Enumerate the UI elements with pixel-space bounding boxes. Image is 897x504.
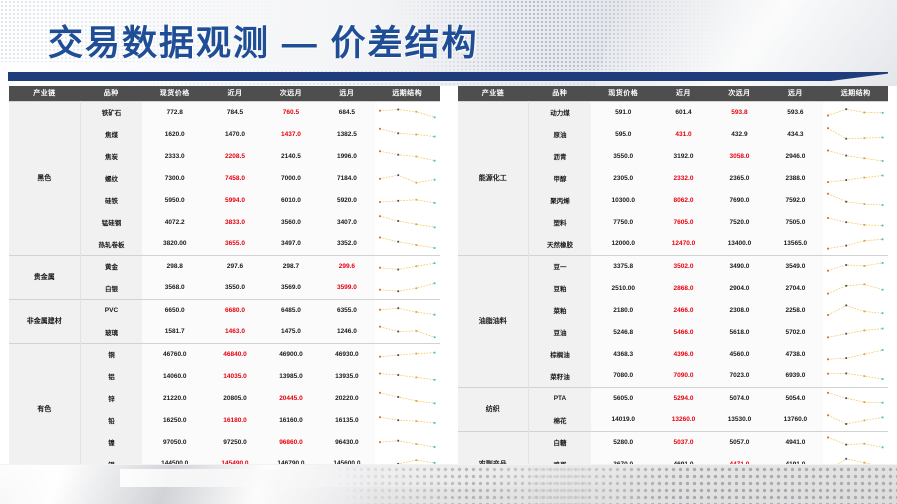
forward-structure-cell	[823, 431, 888, 453]
mid-far-month-cell: 5057.0	[711, 431, 767, 453]
spot-price-cell: 2180.0	[591, 299, 656, 321]
spot-price-cell: 4368.3	[591, 343, 656, 365]
near-month-cell: 5994.0	[207, 189, 263, 211]
table-row[interactable]: 能源化工动力煤591.0601.4593.8593.6	[458, 101, 889, 123]
col-header-mid: 次远月	[711, 86, 767, 101]
forward-curve-sparkline	[823, 344, 888, 365]
forward-structure-cell	[375, 277, 440, 299]
forward-structure-cell	[823, 299, 888, 321]
near-month-cell: 5466.0	[656, 321, 712, 343]
far-month-cell: 593.6	[767, 101, 823, 123]
forward-structure-cell	[375, 321, 440, 343]
near-month-cell: 297.6	[207, 255, 263, 277]
forward-structure-cell	[375, 431, 440, 453]
footer-decoration-band	[0, 464, 897, 504]
near-month-cell: 2466.0	[656, 299, 712, 321]
forward-structure-cell	[375, 189, 440, 211]
col-header-near: 近月	[656, 86, 712, 101]
page-title: 交易数据观测 — 价差结构	[48, 15, 478, 66]
spot-price-cell: 97050.0	[142, 431, 207, 453]
forward-curve-sparkline	[823, 190, 888, 211]
far-month-cell: 3407.0	[319, 211, 375, 233]
far-month-cell: 2946.0	[767, 145, 823, 167]
chain-category-cell: 能源化工	[458, 101, 529, 255]
near-month-cell: 601.4	[656, 101, 712, 123]
far-month-cell: 13565.0	[767, 233, 823, 255]
mid-far-month-cell: 2365.0	[711, 167, 767, 189]
near-month-cell: 7090.0	[656, 365, 712, 387]
col-header-far: 远月	[319, 86, 375, 101]
far-month-cell: 1996.0	[319, 145, 375, 167]
forward-structure-cell	[375, 365, 440, 387]
commodity-name-cell: 天然橡胶	[529, 233, 591, 255]
forward-curve-sparkline	[375, 388, 440, 409]
near-month-cell: 8062.0	[656, 189, 712, 211]
commodity-name-cell: 豆一	[529, 255, 591, 277]
forward-structure-cell	[823, 277, 888, 299]
far-month-cell: 13760.0	[767, 409, 823, 431]
commodity-name-cell: 豆油	[529, 321, 591, 343]
col-header-far: 远月	[767, 86, 823, 101]
near-month-cell: 3192.0	[656, 145, 712, 167]
commodity-name-cell: 棉花	[529, 409, 591, 431]
chain-category-cell: 油脂油料	[458, 255, 529, 387]
forward-curve-sparkline	[823, 432, 888, 453]
near-month-cell: 3550.0	[207, 277, 263, 299]
forward-curve-sparkline	[375, 300, 440, 321]
mid-far-month-cell: 7023.0	[711, 365, 767, 387]
commodity-name-cell: 聚丙烯	[529, 189, 591, 211]
chain-category-cell: 有色	[9, 343, 80, 475]
spot-price-cell: 5280.0	[591, 431, 656, 453]
near-month-cell: 3502.0	[656, 255, 712, 277]
forward-curve-sparkline	[823, 278, 888, 299]
far-month-cell: 7505.0	[767, 211, 823, 233]
commodity-name-cell: 菜粕	[529, 299, 591, 321]
commodity-name-cell: 硅铁	[80, 189, 142, 211]
spot-price-cell: 3375.8	[591, 255, 656, 277]
footer-dot-field-right	[530, 464, 897, 504]
forward-curve-sparkline	[375, 432, 440, 453]
spot-price-cell: 2305.0	[591, 167, 656, 189]
forward-curve-sparkline	[375, 277, 440, 298]
near-month-cell: 6680.0	[207, 299, 263, 321]
header-row: 产业链 品种 现货价格 近月 次远月 远月 远期结构	[9, 86, 440, 101]
commodity-name-cell: 锌	[80, 387, 142, 409]
far-month-cell: 46930.0	[319, 343, 375, 365]
spot-price-cell: 591.0	[591, 101, 656, 123]
forward-structure-cell	[823, 233, 888, 255]
near-month-cell: 3833.0	[207, 211, 263, 233]
col-header-kind: 品种	[529, 86, 591, 101]
forward-structure-cell	[823, 365, 888, 387]
commodity-name-cell: 铝	[80, 365, 142, 387]
forward-curve-sparkline	[375, 190, 440, 211]
far-month-cell: 96430.0	[319, 431, 375, 453]
mid-far-month-cell: 1475.0	[263, 321, 319, 343]
col-header-chain: 产业链	[9, 86, 80, 101]
mid-far-month-cell: 3560.0	[263, 211, 319, 233]
far-month-cell: 5702.0	[767, 321, 823, 343]
spot-price-cell: 3568.0	[142, 277, 207, 299]
mid-far-month-cell: 2904.0	[711, 277, 767, 299]
mid-far-month-cell: 298.7	[263, 255, 319, 277]
far-month-cell: 3599.0	[319, 277, 375, 299]
table-header-left: 产业链 品种 现货价格 近月 次远月 远月 远期结构	[9, 86, 440, 101]
far-month-cell: 5920.0	[319, 189, 375, 211]
near-month-cell: 2868.0	[656, 277, 712, 299]
forward-structure-cell	[823, 101, 888, 123]
mid-far-month-cell: 2308.0	[711, 299, 767, 321]
near-month-cell: 7458.0	[207, 167, 263, 189]
forward-structure-cell	[823, 387, 888, 409]
col-header-struct: 远期结构	[375, 86, 440, 101]
commodity-name-cell: 动力煤	[529, 101, 591, 123]
forward-structure-cell	[375, 167, 440, 189]
spot-price-cell: 2333.0	[142, 145, 207, 167]
forward-structure-cell	[375, 101, 440, 123]
mid-far-month-cell: 3490.0	[711, 255, 767, 277]
forward-curve-sparkline	[375, 233, 440, 254]
spot-price-cell: 3550.0	[591, 145, 656, 167]
forward-curve-sparkline	[823, 102, 888, 123]
forward-structure-cell	[375, 387, 440, 409]
near-month-cell: 1470.0	[207, 123, 263, 145]
price-structure-table-left: 产业链 品种 现货价格 近月 次远月 远月 远期结构 黑色铁矿石772.8784…	[9, 86, 440, 504]
commodity-name-cell: 玻璃	[80, 321, 142, 343]
mid-far-month-cell: 16160.0	[263, 409, 319, 431]
forward-structure-cell	[375, 255, 440, 277]
forward-curve-sparkline	[823, 388, 888, 409]
mid-far-month-cell: 760.5	[263, 101, 319, 123]
spot-price-cell: 16250.0	[142, 409, 207, 431]
spot-price-cell: 1620.0	[142, 123, 207, 145]
far-month-cell: 434.3	[767, 123, 823, 145]
commodity-name-cell: 甲醇	[529, 167, 591, 189]
near-month-cell: 1463.0	[207, 321, 263, 343]
chain-category-cell: 黑色	[9, 101, 80, 255]
forward-structure-cell	[823, 123, 888, 145]
table-row[interactable]: 有色铜46760.046840.046900.046930.0	[9, 343, 440, 365]
tables-container: 产业链 品种 现货价格 近月 次远月 远月 远期结构 黑色铁矿石772.8784…	[0, 86, 897, 466]
forward-structure-cell	[375, 409, 440, 431]
forward-curve-sparkline	[823, 233, 888, 254]
commodity-name-cell: PVC	[80, 299, 142, 321]
near-month-cell: 5037.0	[656, 431, 712, 453]
near-month-cell: 13260.0	[656, 409, 712, 431]
forward-curve-sparkline	[375, 212, 440, 233]
table-row[interactable]: 纺织PTA5605.05294.05074.05054.0	[458, 387, 889, 409]
far-month-cell: 13935.0	[319, 365, 375, 387]
table-body-left: 黑色铁矿石772.8784.5760.5684.5焦煤1620.01470.01…	[9, 101, 440, 504]
near-month-cell: 97250.0	[207, 431, 263, 453]
forward-curve-sparkline	[823, 322, 888, 343]
spot-price-cell: 12000.0	[591, 233, 656, 255]
commodity-name-cell: 镍	[80, 431, 142, 453]
col-header-chain: 产业链	[458, 86, 529, 101]
spot-price-cell: 298.8	[142, 255, 207, 277]
chain-category-cell: 纺织	[458, 387, 529, 431]
spot-price-cell: 7300.0	[142, 167, 207, 189]
near-month-cell: 46840.0	[207, 343, 263, 365]
far-month-cell: 2388.0	[767, 167, 823, 189]
far-month-cell: 7184.0	[319, 167, 375, 189]
far-month-cell: 3549.0	[767, 255, 823, 277]
far-month-cell: 684.5	[319, 101, 375, 123]
commodity-name-cell: 沥青	[529, 145, 591, 167]
commodity-name-cell: 白银	[80, 277, 142, 299]
forward-structure-cell	[823, 343, 888, 365]
commodity-name-cell: 豆粕	[529, 277, 591, 299]
near-month-cell: 12470.0	[656, 233, 712, 255]
far-month-cell: 2704.0	[767, 277, 823, 299]
far-month-cell: 4738.0	[767, 343, 823, 365]
col-header-kind: 品种	[80, 86, 142, 101]
forward-structure-cell	[375, 233, 440, 255]
title-underline-bar	[8, 72, 888, 81]
table-body-right: 能源化工动力煤591.0601.4593.8593.6原油595.0431.04…	[458, 101, 889, 497]
forward-curve-sparkline	[823, 256, 888, 277]
slide-root: 交易数据观测 — 价差结构 产业链 品种 现货价格 近月 次远月 远月 远	[0, 0, 897, 504]
spot-price-cell: 7750.0	[591, 211, 656, 233]
mid-far-month-cell: 3569.0	[263, 277, 319, 299]
mid-far-month-cell: 432.9	[711, 123, 767, 145]
spot-price-cell: 595.0	[591, 123, 656, 145]
left-table-wrapper: 产业链 品种 现货价格 近月 次远月 远月 远期结构 黑色铁矿石772.8784…	[0, 86, 449, 466]
mid-far-month-cell: 6485.0	[263, 299, 319, 321]
spot-price-cell: 2510.00	[591, 277, 656, 299]
far-month-cell: 4941.0	[767, 431, 823, 453]
col-header-struct: 远期结构	[823, 86, 888, 101]
far-month-cell: 1382.5	[319, 123, 375, 145]
far-month-cell: 6939.0	[767, 365, 823, 387]
near-month-cell: 2208.5	[207, 145, 263, 167]
forward-structure-cell	[823, 211, 888, 233]
table-header-right: 产业链 品种 现货价格 近月 次远月 远月 远期结构	[458, 86, 889, 101]
mid-far-month-cell: 13985.0	[263, 365, 319, 387]
forward-curve-sparkline	[823, 300, 888, 321]
table-row[interactable]: 非金属建材PVC6650.06680.06485.06355.0	[9, 299, 440, 321]
forward-curve-sparkline	[375, 102, 440, 123]
mid-far-month-cell: 6010.0	[263, 189, 319, 211]
mid-far-month-cell: 4560.0	[711, 343, 767, 365]
forward-structure-cell	[823, 255, 888, 277]
chain-category-cell: 非金属建材	[9, 299, 80, 343]
far-month-cell: 16135.0	[319, 409, 375, 431]
mid-far-month-cell: 13400.0	[711, 233, 767, 255]
forward-structure-cell	[823, 167, 888, 189]
mid-far-month-cell: 20445.0	[263, 387, 319, 409]
forward-curve-sparkline	[375, 321, 440, 342]
forward-structure-cell	[823, 189, 888, 211]
mid-far-month-cell: 1437.0	[263, 123, 319, 145]
spot-price-cell: 772.8	[142, 101, 207, 123]
col-header-near: 近月	[207, 86, 263, 101]
table-row[interactable]: 黑色铁矿石772.8784.5760.5684.5	[9, 101, 440, 123]
commodity-name-cell: 热轧卷板	[80, 233, 142, 255]
mid-far-month-cell: 7690.0	[711, 189, 767, 211]
forward-curve-sparkline	[823, 409, 888, 430]
col-header-mid: 次远月	[263, 86, 319, 101]
commodity-name-cell: 塑料	[529, 211, 591, 233]
near-month-cell: 2332.0	[656, 167, 712, 189]
spot-price-cell: 5950.0	[142, 189, 207, 211]
commodity-name-cell: 螺纹	[80, 167, 142, 189]
near-month-cell: 784.5	[207, 101, 263, 123]
far-month-cell: 5054.0	[767, 387, 823, 409]
mid-far-month-cell: 7520.0	[711, 211, 767, 233]
near-month-cell: 431.0	[656, 123, 712, 145]
forward-structure-cell	[375, 145, 440, 167]
col-header-spot: 现货价格	[142, 86, 207, 101]
table-row[interactable]: 油脂油料豆一3375.83502.03490.03549.0	[458, 255, 889, 277]
forward-structure-cell	[375, 299, 440, 321]
price-structure-table-right: 产业链 品种 现货价格 近月 次远月 远月 远期结构 能源化工动力煤591.06…	[458, 86, 889, 498]
mid-far-month-cell: 3497.0	[263, 233, 319, 255]
forward-curve-sparkline	[823, 124, 888, 145]
far-month-cell: 2258.0	[767, 299, 823, 321]
table-row[interactable]: 农副产品白糖5280.05037.05057.04941.0	[458, 431, 889, 453]
far-month-cell: 299.6	[319, 255, 375, 277]
far-month-cell: 6355.0	[319, 299, 375, 321]
spot-price-cell: 5605.0	[591, 387, 656, 409]
commodity-name-cell: 黄金	[80, 255, 142, 277]
commodity-name-cell: 菜籽油	[529, 365, 591, 387]
forward-structure-cell	[823, 145, 888, 167]
header-row: 产业链 品种 现货价格 近月 次远月 远月 远期结构	[458, 86, 889, 101]
forward-curve-sparkline	[375, 146, 440, 167]
commodity-name-cell: 棕榈油	[529, 343, 591, 365]
forward-curve-sparkline	[375, 344, 440, 365]
commodity-name-cell: 锰硅钢	[80, 211, 142, 233]
commodity-name-cell: 焦煤	[80, 123, 142, 145]
near-month-cell: 20805.0	[207, 387, 263, 409]
far-month-cell: 20220.0	[319, 387, 375, 409]
mid-far-month-cell: 3058.0	[711, 145, 767, 167]
spot-price-cell: 10300.0	[591, 189, 656, 211]
near-month-cell: 4396.0	[656, 343, 712, 365]
mid-far-month-cell: 7000.0	[263, 167, 319, 189]
far-month-cell: 1246.0	[319, 321, 375, 343]
near-month-cell: 5294.0	[656, 387, 712, 409]
forward-curve-sparkline	[823, 146, 888, 167]
near-month-cell: 3655.0	[207, 233, 263, 255]
forward-curve-sparkline	[375, 168, 440, 189]
forward-structure-cell	[375, 211, 440, 233]
right-table-wrapper: 产业链 品种 现货价格 近月 次远月 远月 远期结构 能源化工动力煤591.06…	[449, 86, 897, 466]
table-row[interactable]: 贵金属黄金298.8297.6298.7299.6	[9, 255, 440, 277]
near-month-cell: 16180.0	[207, 409, 263, 431]
spot-price-cell: 1581.7	[142, 321, 207, 343]
chain-category-cell: 贵金属	[9, 255, 80, 299]
forward-curve-sparkline	[823, 365, 888, 386]
forward-structure-cell	[823, 409, 888, 431]
commodity-name-cell: 铅	[80, 409, 142, 431]
spot-price-cell: 14060.0	[142, 365, 207, 387]
forward-structure-cell	[375, 123, 440, 145]
mid-far-month-cell: 96860.0	[263, 431, 319, 453]
forward-structure-cell	[375, 343, 440, 365]
commodity-name-cell: PTA	[529, 387, 591, 409]
commodity-name-cell: 焦炭	[80, 145, 142, 167]
mid-far-month-cell: 5618.0	[711, 321, 767, 343]
near-month-cell: 7605.0	[656, 211, 712, 233]
forward-curve-sparkline	[375, 256, 440, 277]
spot-price-cell: 14019.0	[591, 409, 656, 431]
forward-curve-sparkline	[375, 366, 440, 387]
far-month-cell: 7592.0	[767, 189, 823, 211]
far-month-cell: 3352.0	[319, 233, 375, 255]
spot-price-cell: 21220.0	[142, 387, 207, 409]
forward-curve-sparkline	[823, 212, 888, 233]
spot-price-cell: 46760.0	[142, 343, 207, 365]
forward-structure-cell	[823, 321, 888, 343]
mid-far-month-cell: 593.8	[711, 101, 767, 123]
spot-price-cell: 4072.2	[142, 211, 207, 233]
commodity-name-cell: 白糖	[529, 431, 591, 453]
mid-far-month-cell: 13530.0	[711, 409, 767, 431]
commodity-name-cell: 铁矿石	[80, 101, 142, 123]
commodity-name-cell: 铜	[80, 343, 142, 365]
near-month-cell: 14035.0	[207, 365, 263, 387]
mid-far-month-cell: 5074.0	[711, 387, 767, 409]
commodity-name-cell: 原油	[529, 123, 591, 145]
spot-price-cell: 3820.00	[142, 233, 207, 255]
mid-far-month-cell: 2140.5	[263, 145, 319, 167]
mid-far-month-cell: 46900.0	[263, 343, 319, 365]
spot-price-cell: 7080.0	[591, 365, 656, 387]
forward-curve-sparkline	[375, 124, 440, 145]
col-header-spot: 现货价格	[591, 86, 656, 101]
forward-curve-sparkline	[375, 410, 440, 431]
forward-curve-sparkline	[823, 168, 888, 189]
spot-price-cell: 5246.8	[591, 321, 656, 343]
spot-price-cell: 6650.0	[142, 299, 207, 321]
